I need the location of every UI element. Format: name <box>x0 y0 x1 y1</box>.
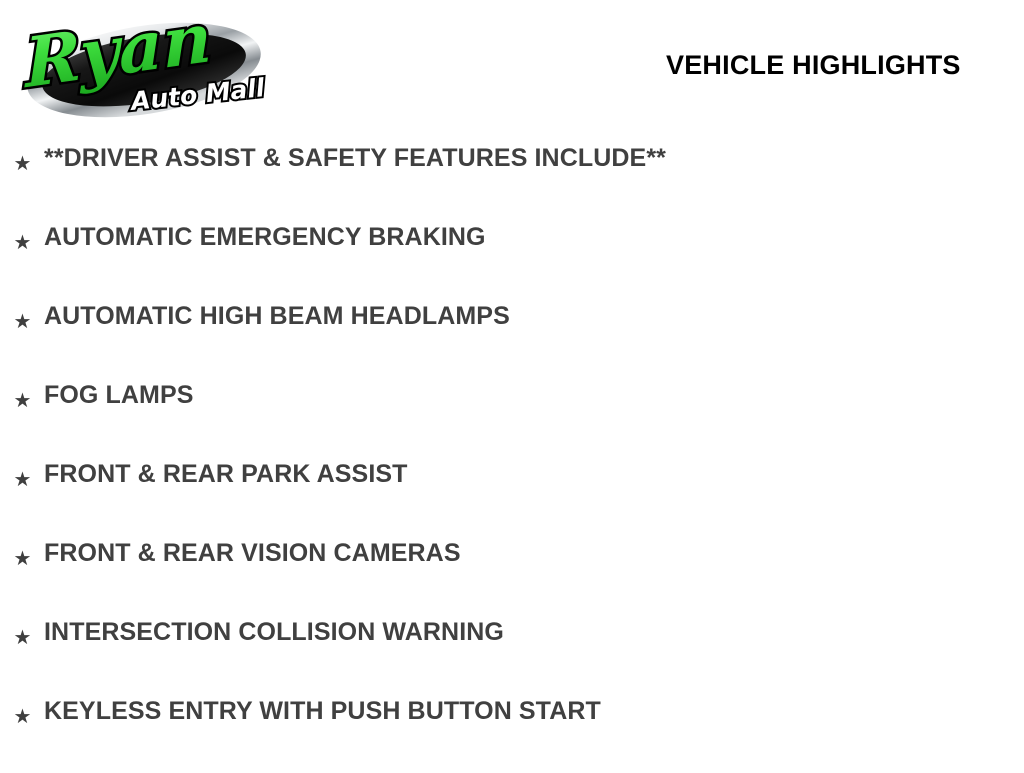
ryan-auto-mall-logo: Ryan Auto Mall <box>14 8 282 120</box>
list-item: ★ FRONT & REAR VISION CAMERAS <box>0 536 1024 615</box>
star-bullet-icon: ★ <box>13 392 32 411</box>
star-bullet-icon: ★ <box>13 629 32 648</box>
star-bullet-icon: ★ <box>13 550 32 569</box>
list-item-label: AUTOMATIC HIGH BEAM HEADLAMPS <box>44 299 510 333</box>
list-item: ★ **DRIVER ASSIST & SAFETY FEATURES INCL… <box>0 141 1024 220</box>
list-item-label: **DRIVER ASSIST & SAFETY FEATURES INCLUD… <box>44 141 666 175</box>
star-bullet-icon: ★ <box>13 313 32 332</box>
list-item-label: KEYLESS ENTRY WITH PUSH BUTTON START <box>44 694 601 728</box>
page-header: Ryan Auto Mall VEHICLE HIGHLIGHTS <box>0 0 1024 128</box>
star-bullet-icon: ★ <box>13 155 32 174</box>
list-item: ★ FRONT & REAR PARK ASSIST <box>0 457 1024 536</box>
vehicle-highlights-list: ★ **DRIVER ASSIST & SAFETY FEATURES INCL… <box>0 141 1024 773</box>
list-item: ★ FOG LAMPS <box>0 378 1024 457</box>
page-title: VEHICLE HIGHLIGHTS <box>666 50 961 81</box>
list-item-label: AUTOMATIC EMERGENCY BRAKING <box>44 220 486 254</box>
star-bullet-icon: ★ <box>13 234 32 253</box>
list-item: ★ AUTOMATIC HIGH BEAM HEADLAMPS <box>0 299 1024 378</box>
star-bullet-icon: ★ <box>13 708 32 727</box>
list-item: ★ KEYLESS ENTRY WITH PUSH BUTTON START <box>0 694 1024 773</box>
list-item-label: FOG LAMPS <box>44 378 194 412</box>
star-bullet-icon: ★ <box>13 471 32 490</box>
list-item-label: INTERSECTION COLLISION WARNING <box>44 615 504 649</box>
list-item: ★ INTERSECTION COLLISION WARNING <box>0 615 1024 694</box>
list-item-label: FRONT & REAR VISION CAMERAS <box>44 536 461 570</box>
list-item: ★ AUTOMATIC EMERGENCY BRAKING <box>0 220 1024 299</box>
list-item-label: FRONT & REAR PARK ASSIST <box>44 457 408 491</box>
